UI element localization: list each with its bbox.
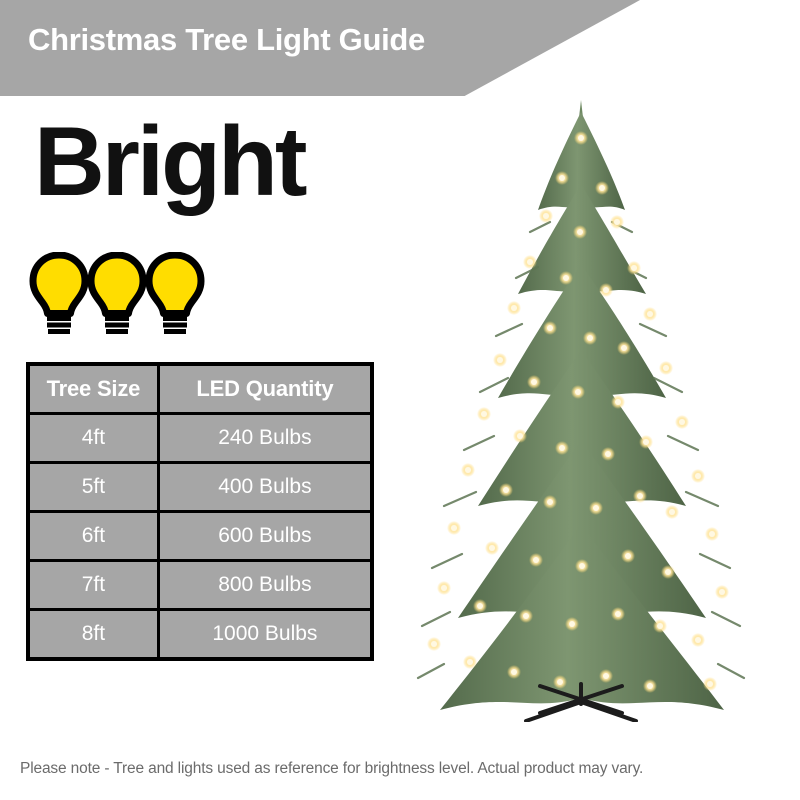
led-quantity-table: Tree Size LED Quantity 4ft 240 Bulbs 5ft…	[26, 362, 374, 661]
cell-led-quantity: 600 Bulbs	[158, 512, 372, 561]
cell-tree-size: 6ft	[28, 512, 158, 561]
christmas-tree-illustration	[410, 92, 800, 722]
cell-led-quantity: 240 Bulbs	[158, 414, 372, 463]
tree-foliage	[440, 100, 724, 710]
cell-led-quantity: 800 Bulbs	[158, 561, 372, 610]
table-row: 4ft 240 Bulbs	[28, 414, 372, 463]
brightness-level-heading: Bright	[34, 112, 305, 210]
light-bulb-icon	[144, 252, 206, 338]
page-title: Christmas Tree Light Guide	[28, 22, 425, 58]
cell-led-quantity: 400 Bulbs	[158, 463, 372, 512]
cell-tree-size: 5ft	[28, 463, 158, 512]
cell-tree-size: 4ft	[28, 414, 158, 463]
disclaimer-note: Please note - Tree and lights used as re…	[20, 760, 643, 778]
brightness-rating-bulbs	[28, 252, 202, 338]
table-row: 6ft 600 Bulbs	[28, 512, 372, 561]
table-header-row: Tree Size LED Quantity	[28, 364, 372, 414]
cell-tree-size: 7ft	[28, 561, 158, 610]
table-row: 5ft 400 Bulbs	[28, 463, 372, 512]
column-header-tree-size: Tree Size	[28, 364, 158, 414]
light-bulb-icon	[86, 252, 148, 338]
table-row: 7ft 800 Bulbs	[28, 561, 372, 610]
light-bulb-icon	[28, 252, 90, 338]
light-guide-infographic: Christmas Tree Light Guide Bright Tree S…	[0, 0, 800, 800]
column-header-led-quantity: LED Quantity	[158, 364, 372, 414]
cell-led-quantity: 1000 Bulbs	[158, 610, 372, 660]
cell-tree-size: 8ft	[28, 610, 158, 660]
table-row: 8ft 1000 Bulbs	[28, 610, 372, 660]
pre-lit-christmas-tree-photo	[410, 92, 800, 722]
